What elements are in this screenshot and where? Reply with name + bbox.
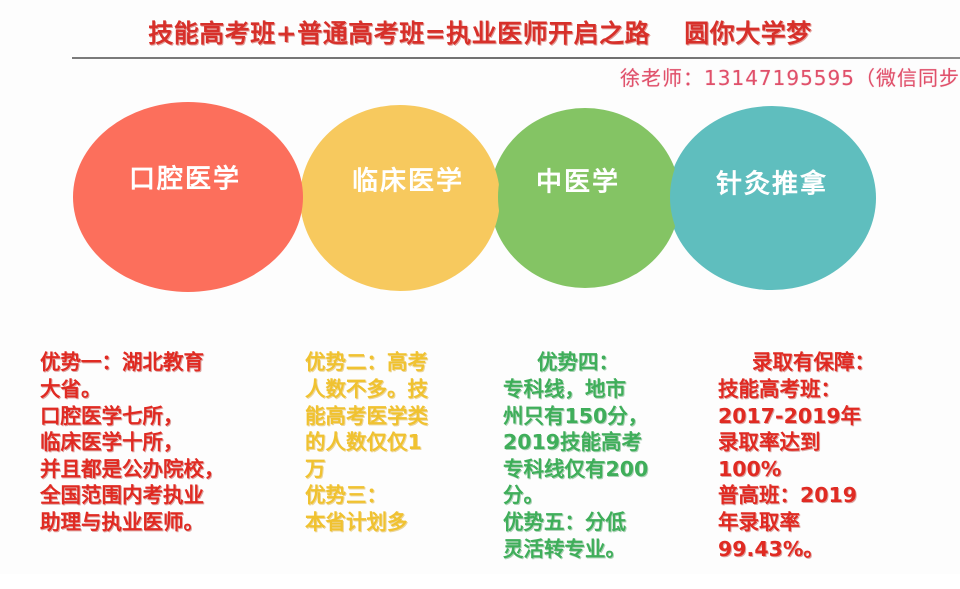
header-divider (72, 57, 960, 59)
advantage-column-1-heading: 优势一：湖北教育 (40, 349, 292, 376)
headline-main: 技能高考班+普通高考班=执业医师开启之路 (148, 19, 650, 48)
advantage-column-3-heading: 优势四： (503, 349, 703, 376)
advantage-column-1: 优势一：湖北教育大省。 口腔医学七所， 临床医学十所， 并且都是公办院校， 全国… (40, 296, 292, 562)
advantage-column-3-body: 专科线，地市 州只有150分， 2019技能高考 专科线仅有200 分。 优势五… (503, 377, 648, 561)
circle-group-2[interactable] (490, 108, 680, 288)
circle-group-1[interactable] (300, 105, 500, 291)
advantage-column-2-heading: 优势二：高考 (305, 349, 485, 376)
circle-label-2: 中医学 (536, 167, 620, 198)
page-title: 技能高考班+普通高考班=执业医师开启之路圆你大学梦 (0, 14, 960, 50)
circle-label-1: 临床医学 (352, 166, 464, 197)
circle-label-0: 口腔医学 (129, 164, 241, 195)
circle-shape-1 (300, 105, 500, 291)
circle-shape-0 (73, 102, 303, 292)
poster-canvas: 技能高考班+普通高考班=执业医师开启之路圆你大学梦 徐老师：1314719559… (0, 0, 960, 574)
advantage-column-2: 优势二：高考人数不多。技 能高考医学类 的人数仅仅1 万 优势三： 本省计划多 (305, 296, 485, 562)
advantage-columns: 优势一：湖北教育大省。 口腔医学七所， 临床医学十所， 并且都是公办院校， 全国… (0, 296, 960, 574)
contact-line: 徐老师：13147195595（微信同步 (620, 62, 960, 91)
circle-group-0[interactable] (73, 102, 303, 292)
headline-slogan: 圆你大学梦 (684, 19, 812, 48)
program-circles: 针灸推拿 中医学 临床医学 口腔医学 (0, 100, 960, 300)
advantage-column-3: 优势四：专科线，地市 州只有150分， 2019技能高考 专科线仅有200 分。… (503, 296, 703, 589)
advantage-column-2-body: 人数不多。技 能高考医学类 的人数仅仅1 万 优势三： 本省计划多 (305, 377, 428, 534)
advantage-column-4-heading: 录取有保障： (718, 349, 933, 376)
circle-group-3[interactable]: 针灸推拿 (668, 106, 876, 290)
advantage-column-4-body: 技能高考班： 2017-2019年 录取率达到 100% 普高班：2019 年录… (718, 377, 861, 561)
advantage-column-4: 录取有保障：技能高考班： 2017-2019年 录取率达到 100% 普高班：2… (718, 296, 933, 589)
circle-label-3: 针灸推拿 (716, 169, 828, 200)
advantage-column-1-body: 大省。 口腔医学七所， 临床医学十所， 并且都是公办院校， 全国范围内考执业 助… (40, 377, 225, 534)
circle-shape-2 (490, 108, 680, 288)
